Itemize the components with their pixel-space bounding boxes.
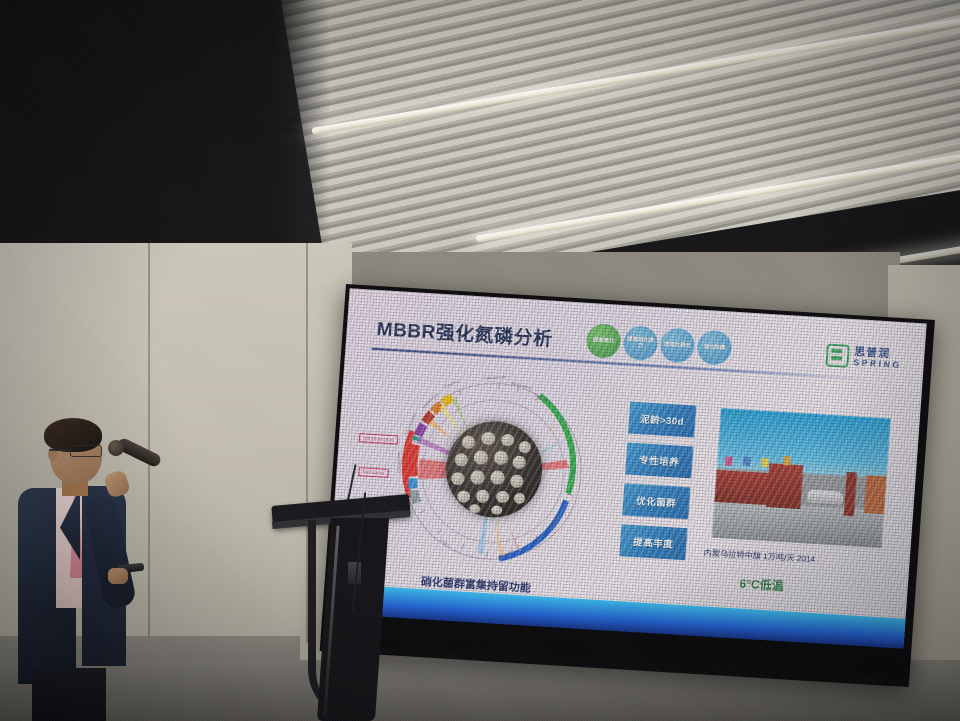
- circos-chart: Proteobacteria Bacteroidetes Nitrospirae…: [386, 365, 600, 577]
- led-screen[interactable]: MBBR强化氮磷分析 提高氨化 提高硝化能力 提高反硝化 强化除磷 思普润 SP…: [320, 284, 935, 687]
- svg-text:Proteobacteria: Proteobacteria: [483, 375, 505, 381]
- svg-text:Chloroflexi: Chloroflexi: [444, 379, 461, 389]
- feature-box-column: 泥龄>30d 专性培养 优化菌群 提高丰度: [619, 402, 696, 561]
- svg-text:Actinobacteria: Actinobacteria: [397, 452, 402, 474]
- lectern: [290, 500, 410, 721]
- badge-phosphorus-removal[interactable]: 强化除磷: [696, 330, 732, 366]
- badge-denitrification[interactable]: 提高反硝化: [659, 327, 695, 363]
- trousers: [32, 668, 106, 721]
- photo-red-tower: [766, 463, 803, 509]
- slide-title: MBBR强化氮磷分析: [376, 314, 554, 352]
- photo-flag: [743, 457, 751, 466]
- svg-text:Others: Others: [439, 538, 450, 547]
- photo-temperature-label: 6°C低温: [739, 575, 784, 595]
- spring-logo-mark-icon: [825, 343, 850, 367]
- annotation-nitrospira: Nitrospira: [358, 467, 388, 478]
- logo-text: 思普润 SPRING: [853, 347, 903, 369]
- svg-text:Bacteroidetes: Bacteroidetes: [511, 381, 532, 390]
- photo-white-car: [807, 490, 844, 505]
- photo-caption: 内蒙乌拉特中旗 1万吨/天 2014: [703, 546, 815, 565]
- speaker: [10, 418, 190, 721]
- badge-nitrification[interactable]: 提高硝化能力: [622, 325, 658, 361]
- feature-box-optimize-community[interactable]: 优化菌群: [622, 483, 690, 519]
- feature-box-increase-abundance[interactable]: 提高丰度: [619, 524, 687, 560]
- photo-flag: [783, 456, 791, 465]
- feature-box-sludge-age[interactable]: 泥龄>30d: [628, 402, 696, 438]
- photograph-scene: MBBR强化氮磷分析 提高氨化 提高硝化能力 提高反硝化 强化除磷 思普润 SP…: [0, 0, 960, 721]
- hand-holding-clicker: [108, 568, 128, 584]
- eyeglasses: [70, 445, 102, 457]
- microphone-head-icon: [108, 440, 124, 456]
- photo-flag: [725, 456, 733, 465]
- annotation-nitrosomonas: Nitrosomonas: [359, 433, 398, 444]
- plant-site-photo: [711, 407, 892, 549]
- feature-box-specific-culture[interactable]: 专性培养: [625, 442, 693, 478]
- badge-row: 提高氨化 提高硝化能力 提高反硝化 强化除磷: [585, 323, 732, 366]
- logo-english-name: SPRING: [853, 358, 902, 369]
- photo-side-building: [864, 475, 887, 514]
- badge-ammonification[interactable]: 提高氨化: [585, 323, 621, 359]
- company-logo: 思普润 SPRING: [825, 343, 903, 371]
- photo-flag: [761, 458, 769, 467]
